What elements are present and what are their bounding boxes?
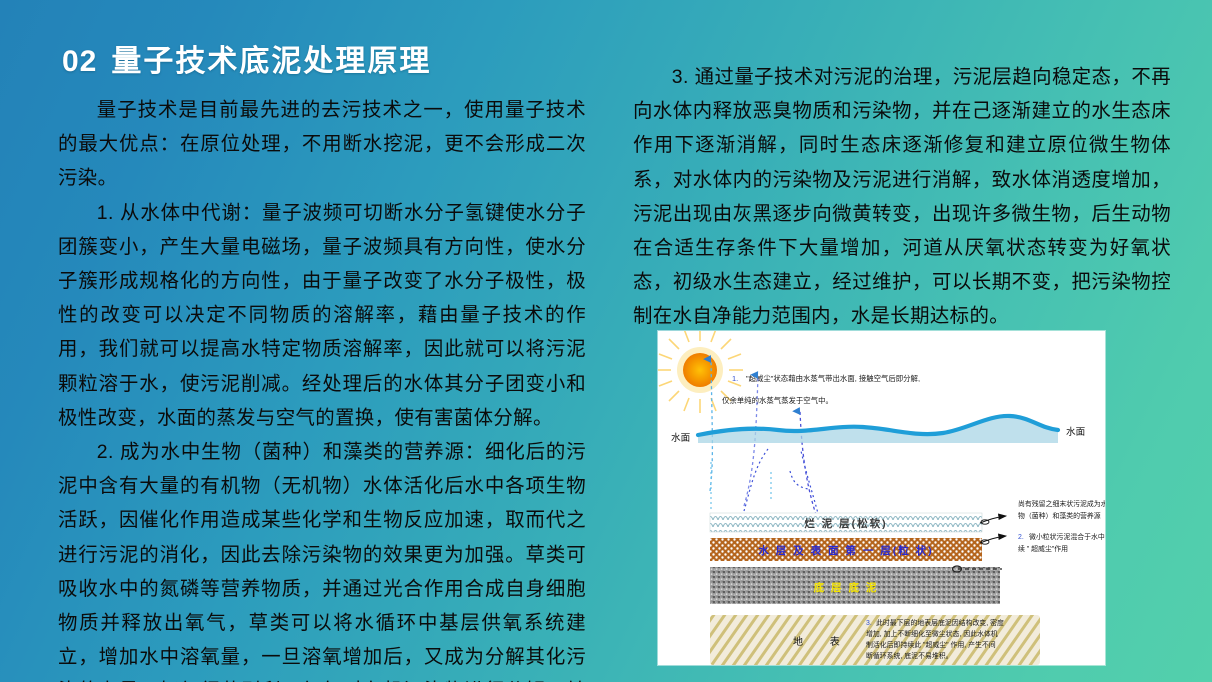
note1-line2: 仅余单纯的水蒸气蒸发于空气中。: [722, 396, 833, 405]
annotation2-line2: 续 " 超威尘"作用: [1018, 544, 1068, 553]
left-text-column: 量子技术是目前最先进的去污技术之一，使用量子技术的最大优点：在原位处理，不用断水…: [58, 93, 586, 682]
section-title: 量子技术底泥处理原理: [111, 36, 431, 80]
layer3-label: 底 层 底 泥: [814, 581, 879, 594]
note1-line1: "超威尘"状态藉由水蒸气带出水面, 接触空气后即分解,: [746, 374, 920, 383]
note1-number: 1.: [732, 374, 738, 383]
ground-layer: 地 表 3. 此时最下层的地表层底泥因结构改变, 密度 增加, 加上不断细化至微…: [710, 615, 1040, 665]
section-number: 02: [62, 45, 97, 79]
note3-line2: 增加, 加上不断细化至微尘状态, 因此水体机: [866, 629, 998, 638]
ground-label: 地 表: [793, 635, 852, 648]
annotation1-line1: 尚有残留之细末状污泥成为水中生: [1018, 499, 1105, 508]
note3-number: 3.: [866, 620, 872, 627]
layer2-label: 水 层 及 表 面 第 一 层(粒 状): [757, 544, 933, 557]
page-title: 02 量子技术底泥处理原理: [62, 36, 431, 80]
water-label-left: 水面: [671, 432, 691, 444]
paragraph: 2. 成为水中生物（菌种）和藻类的营养源：细化后的污泥中含有大量的有机物（无机物…: [58, 435, 586, 682]
note3-line4: 断循环系统, 底泥不易堆积。: [866, 651, 953, 660]
water-label-right: 水面: [1066, 426, 1086, 438]
sediment-process-diagram: 1. "超威尘"状态藉由水蒸气带出水面, 接触空气后即分解, 仅余单纯的水蒸气蒸…: [658, 331, 1105, 665]
right-text-column: 3. 通过量子技术对污泥的治理，污泥层趋向稳定态，不再向水体内释放恶臭物质和污染…: [633, 60, 1171, 334]
note3-line3: 制活化后即持续此 "超威尘" 作用, 产生不间: [866, 640, 996, 649]
layer-soft-mud: 烂 泥 层(松软): [710, 513, 982, 532]
annotation2-number: 2.: [1018, 534, 1024, 541]
slide-root: 02 量子技术底泥处理原理 量子技术是目前最先进的去污技术之一，使用量子技术的最…: [0, 0, 1212, 682]
layer1-label: 烂 泥 层(松软): [804, 517, 887, 530]
paragraph: 3. 通过量子技术对污泥的治理，污泥层趋向稳定态，不再向水体内释放恶臭物质和污染…: [633, 60, 1171, 334]
note3-line1: 此时最下层的地表层底泥因结构改变, 密度: [876, 618, 1004, 627]
annotation2-line1: 微小粒状污泥混合于水中"持: [1029, 532, 1105, 541]
annotation1-line2: 物（菌种）和藻类的营养源: [1018, 511, 1101, 520]
paragraph: 量子技术是目前最先进的去污技术之一，使用量子技术的最大优点：在原位处理，不用断水…: [58, 93, 586, 196]
paragraph: 1. 从水体中代谢：量子波频可切断水分子氢键使水分子团簇变小，产生大量电磁场，量…: [58, 196, 586, 435]
layer-granular: 水 层 及 表 面 第 一 层(粒 状): [710, 538, 982, 561]
